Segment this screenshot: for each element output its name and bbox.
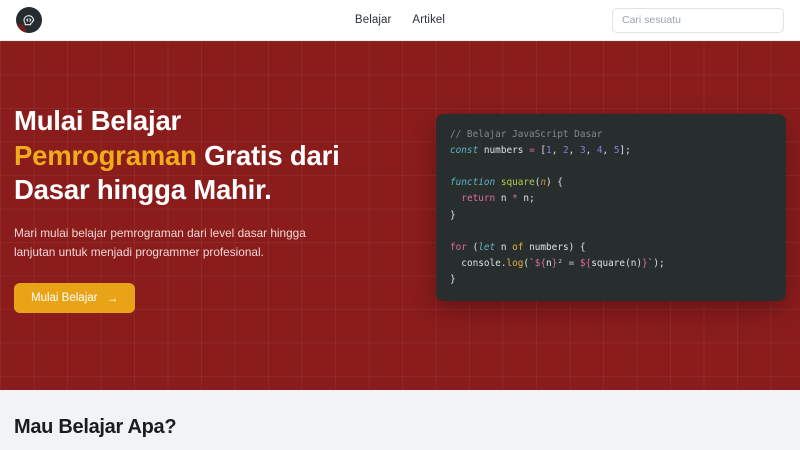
cta-label: Mulai Belajar bbox=[31, 292, 97, 304]
hero-subtitle: Mari mulai belajar pemrograman dari leve… bbox=[14, 224, 336, 262]
hero-title-line1: Mulai Belajar bbox=[14, 105, 181, 136]
code-let-keyword: let bbox=[478, 242, 495, 253]
code-function-keyword: function bbox=[450, 177, 495, 188]
courses-section: Mau Belajar Apa? bbox=[0, 390, 800, 450]
code-const-keyword: const bbox=[450, 145, 478, 156]
code-comment: // Belajar JavaScript Dasar bbox=[450, 129, 602, 140]
search-input[interactable] bbox=[622, 14, 774, 26]
hero-title-accent: Pemrograman bbox=[14, 140, 197, 171]
code-function-name: square bbox=[501, 177, 535, 188]
hero-title: Mulai Belajar Pemrograman Gratis dari Da… bbox=[14, 104, 406, 208]
hero-title-line3: Dasar hingga Mahir. bbox=[14, 174, 272, 205]
code-block: // Belajar JavaScript Dasar const number… bbox=[450, 127, 772, 289]
site-header: Belajar Artikel bbox=[0, 0, 800, 41]
code-assign-op: = bbox=[529, 145, 535, 156]
search-box[interactable] bbox=[612, 8, 784, 33]
cta-mulai-belajar-button[interactable]: Mulai Belajar → bbox=[14, 283, 135, 313]
code-console: console bbox=[461, 258, 501, 269]
code-of-keyword: of bbox=[512, 242, 523, 253]
head-code-logo-icon[interactable] bbox=[16, 7, 42, 33]
code-return-keyword: return bbox=[461, 193, 495, 204]
hero-content: Mulai Belajar Pemrograman Gratis dari Da… bbox=[14, 104, 406, 327]
nav-link-artikel[interactable]: Artikel bbox=[412, 14, 445, 26]
hero-section: Mulai Belajar Pemrograman Gratis dari Da… bbox=[0, 41, 800, 390]
code-preview-panel: // Belajar JavaScript Dasar const number… bbox=[436, 114, 786, 302]
arrow-right-icon: → bbox=[106, 292, 118, 304]
hero-title-rest: Gratis dari bbox=[197, 140, 340, 171]
code-iterable: numbers bbox=[529, 242, 569, 253]
code-log-method: log bbox=[506, 258, 523, 269]
section-title: Mau Belajar Apa? bbox=[14, 416, 786, 439]
nav-link-belajar[interactable]: Belajar bbox=[355, 14, 392, 26]
code-var-name: numbers bbox=[484, 145, 524, 156]
code-for-keyword: for bbox=[450, 242, 467, 253]
